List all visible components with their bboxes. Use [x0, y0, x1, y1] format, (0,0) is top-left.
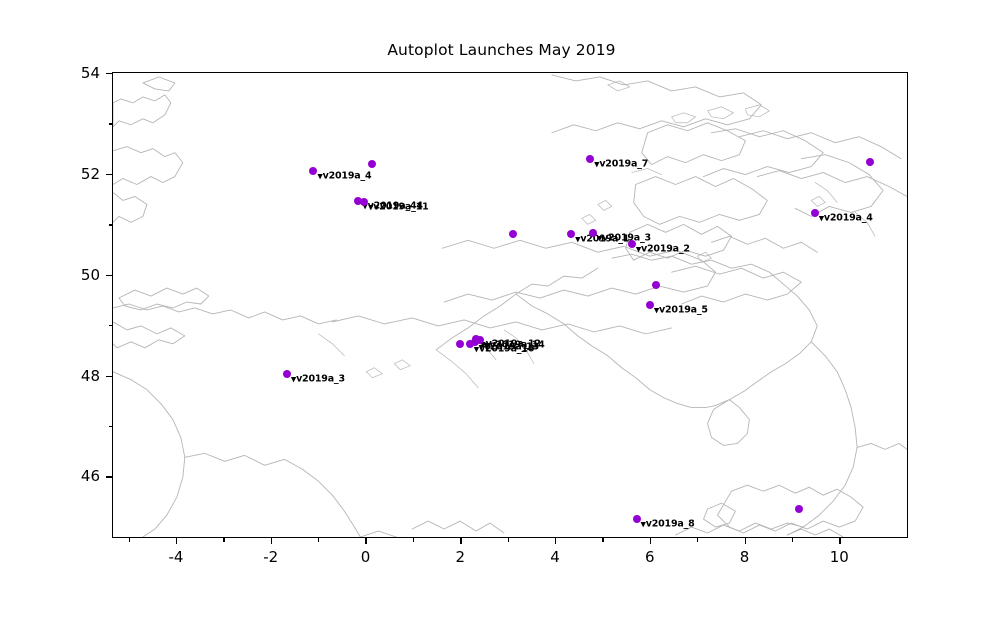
x-tick-minor — [318, 538, 319, 542]
x-tick-label: 8 — [740, 548, 750, 566]
x-tick-major — [650, 538, 651, 544]
scatter-points: ▼v2019a_4▼v2019a_44▼v2019a_11▼v2019a_7▼v… — [113, 73, 907, 537]
y-tick-label: 54 — [50, 64, 100, 82]
scatter-point[interactable] — [811, 209, 819, 217]
y-tick-minor — [109, 426, 113, 427]
x-tick-minor — [129, 538, 130, 542]
x-tick-major — [745, 538, 746, 544]
scatter-point[interactable] — [360, 198, 368, 206]
y-tick-minor — [109, 123, 113, 124]
x-tick-label: 4 — [550, 548, 560, 566]
scatter-point[interactable] — [456, 340, 464, 348]
scatter-point-label: ▼v2019a_2 — [636, 244, 690, 255]
x-tick-minor — [223, 538, 224, 542]
y-tick-major — [106, 174, 112, 175]
y-tick-minor — [109, 325, 113, 326]
scatter-point[interactable] — [567, 230, 575, 238]
x-tick-minor — [508, 538, 509, 542]
scatter-point-label: ▼v2019a_16 — [474, 344, 534, 355]
scatter-point-label: ▼v2019a_5 — [654, 304, 708, 315]
y-tick-label: 48 — [50, 367, 100, 385]
x-tick-major — [271, 538, 272, 544]
x-tick-label: -2 — [263, 548, 278, 566]
y-tick-label: 52 — [50, 165, 100, 183]
scatter-point[interactable] — [646, 301, 654, 309]
scatter-point[interactable] — [633, 515, 641, 523]
x-tick-label: -4 — [168, 548, 183, 566]
scatter-point[interactable] — [309, 167, 317, 175]
scatter-point[interactable] — [466, 340, 474, 348]
scatter-point-label: ▼v2019a_7 — [594, 158, 648, 169]
scatter-point[interactable] — [866, 158, 874, 166]
scatter-point-label: ▼v2019a_3 — [597, 232, 651, 243]
plot-area: ▼v2019a_4▼v2019a_44▼v2019a_11▼v2019a_7▼v… — [112, 72, 908, 538]
y-tick-major — [106, 73, 112, 74]
x-tick-minor — [413, 538, 414, 542]
scatter-point[interactable] — [652, 281, 660, 289]
scatter-point-label: ▼v2019a_8 — [641, 518, 695, 529]
x-tick-major — [176, 538, 177, 544]
y-tick-minor — [109, 224, 113, 225]
page-title: Autoplot Launches May 2019 — [0, 41, 1003, 59]
x-tick-major — [555, 538, 556, 544]
scatter-point-label: ▼v2019a_4 — [819, 212, 873, 223]
scatter-point[interactable] — [509, 230, 517, 238]
scatter-point[interactable] — [589, 229, 597, 237]
scatter-point-label: ▼v2019a_3 — [291, 373, 345, 384]
scatter-point-label: ▼v2019a_4 — [317, 170, 371, 181]
x-tick-minor — [697, 538, 698, 542]
x-tick-label: 2 — [455, 548, 465, 566]
scatter-point[interactable] — [283, 370, 291, 378]
scatter-point[interactable] — [368, 160, 376, 168]
scatter-point-label: ▼v2019a_11 — [368, 202, 428, 213]
x-tick-label: 6 — [645, 548, 655, 566]
x-tick-major — [460, 538, 461, 544]
scatter-point[interactable] — [628, 240, 636, 248]
y-tick-major — [106, 476, 112, 477]
x-tick-label: 0 — [361, 548, 371, 566]
x-tick-major — [365, 538, 366, 544]
y-tick-label: 46 — [50, 467, 100, 485]
x-tick-major — [839, 538, 840, 544]
scatter-point[interactable] — [586, 155, 594, 163]
x-tick-label: 10 — [830, 548, 849, 566]
y-tick-major — [106, 275, 112, 276]
x-tick-minor — [602, 538, 603, 542]
x-tick-minor — [792, 538, 793, 542]
figure-canvas: Autoplot Launches May 2019 — [0, 0, 1003, 633]
y-tick-major — [106, 376, 112, 377]
scatter-point[interactable] — [795, 505, 803, 513]
y-tick-label: 50 — [50, 266, 100, 284]
